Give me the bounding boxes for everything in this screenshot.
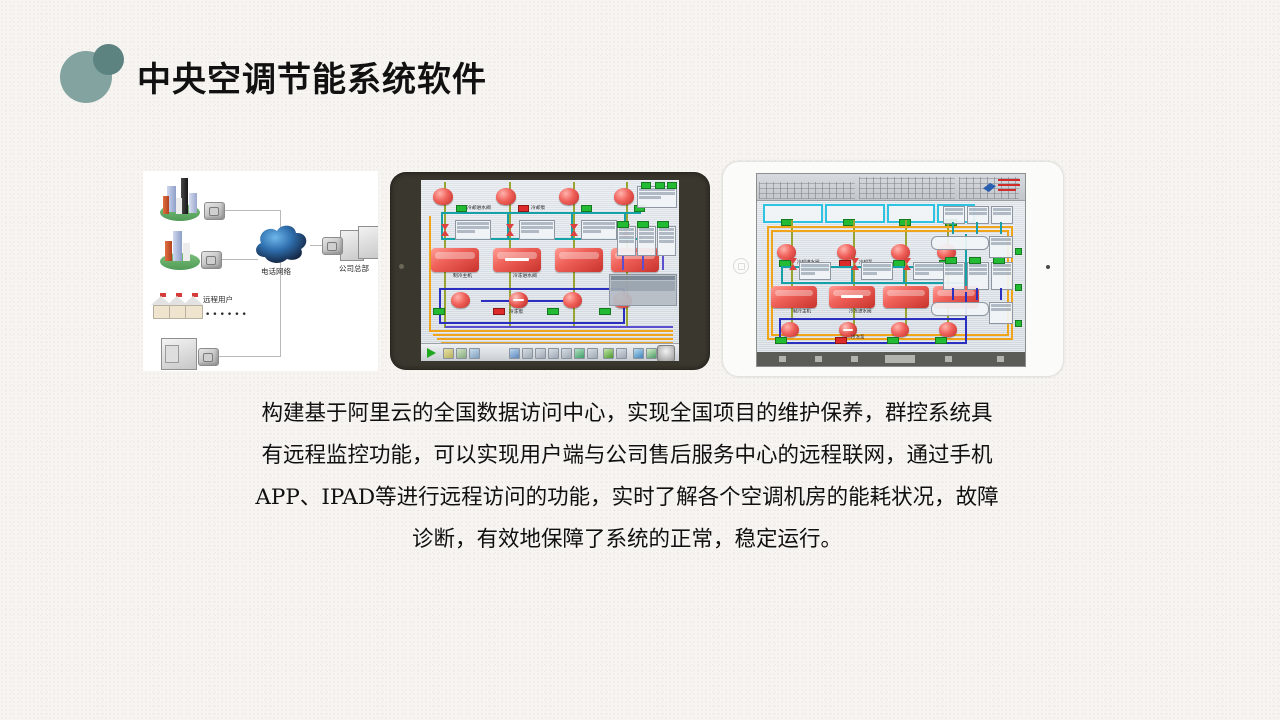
databox-row <box>993 212 1011 215</box>
toolbar-icon-9[interactable] <box>561 348 572 359</box>
chilled-pump-2 <box>509 292 528 308</box>
orange-loop-2 <box>433 334 673 336</box>
ahu-down-1 <box>622 256 624 270</box>
summary-pill-1 <box>931 236 989 250</box>
toolbar-icon-5[interactable] <box>509 348 520 359</box>
ahu-led-2 <box>969 257 981 264</box>
databox-row <box>945 208 963 211</box>
status-led-1 <box>456 205 467 212</box>
label-chilled-inlet-valve: 冷冻进水阀 <box>849 308 872 314</box>
databox-row <box>583 226 615 229</box>
network-topology-diagram: 电话网络 公司总部 <box>143 171 378 371</box>
router-icon-2 <box>201 251 222 269</box>
databox-row <box>801 268 829 271</box>
bottombar-icon-3[interactable] <box>851 356 858 362</box>
ahu-down-3 <box>1000 222 1002 234</box>
building-blue-2 <box>189 193 197 213</box>
ahu-led-1 <box>617 221 629 228</box>
ahu-box-1 <box>617 226 636 256</box>
chilled-pump-1 <box>781 322 799 337</box>
databox-row <box>863 264 891 267</box>
building-tower-dark <box>181 178 188 214</box>
summary-pill-2 <box>931 302 989 316</box>
status-led-8 <box>599 308 611 315</box>
databox-row <box>915 264 943 267</box>
swoosh-icon <box>983 183 996 192</box>
figure-row: 电话网络 公司总部 <box>0 0 1280 400</box>
building-white-2 <box>183 243 190 261</box>
cloud-icon <box>251 221 307 261</box>
databox-row <box>993 268 1011 271</box>
databox-row <box>945 272 963 275</box>
databox-row <box>583 222 615 225</box>
remote-users-ellipsis: •••••• <box>205 310 249 320</box>
house-body-3 <box>185 305 203 319</box>
databox-3 <box>913 262 945 280</box>
chiller-unit-3 <box>883 286 929 308</box>
status-led-5 <box>433 308 445 315</box>
router-icon-1 <box>204 202 225 220</box>
cooling-tower-bank-1 <box>763 204 823 223</box>
riser-pipe-3 <box>905 220 907 328</box>
body-paragraph: 构建基于阿里云的全国数据访问中心，实现全国项目的维护保养，群控系统具 有远程监控… <box>196 393 1058 561</box>
toolbar-icon-6[interactable] <box>522 348 533 359</box>
orange-loop-bottom-2 <box>771 334 1009 336</box>
chiller-unit-2 <box>829 286 875 308</box>
edge-marker-2 <box>1015 284 1022 291</box>
valve-3b <box>903 264 911 270</box>
violet-loop <box>445 326 673 328</box>
databox-row <box>991 308 1011 311</box>
status-led-2 <box>518 205 529 212</box>
databox-row <box>945 268 963 271</box>
gauge-led-1 <box>641 182 651 189</box>
teal-main-2 <box>781 282 967 284</box>
header-grid-2 <box>859 177 955 199</box>
cooling-main-top <box>441 212 641 214</box>
building-orange-2 <box>165 241 172 261</box>
databox-row <box>457 222 489 225</box>
ahu-down-2 <box>976 222 978 234</box>
scada-header-table <box>757 174 1025 201</box>
databox-row <box>619 232 634 235</box>
ahu-return-3 <box>1000 288 1002 300</box>
label-chiller-main: 制冷主机 <box>453 272 472 279</box>
label-cooling-inlet-valve: 冷却进水阀 <box>467 204 491 211</box>
remote-users-label: 远程用户 <box>203 294 233 305</box>
edge-marker-3 <box>1015 320 1022 327</box>
toolbar-icon-4[interactable] <box>469 348 480 359</box>
logo-line-3 <box>998 189 1016 191</box>
chilled-main-top <box>439 288 625 290</box>
databox-row <box>993 272 1011 275</box>
home-button[interactable] <box>733 258 749 274</box>
toolbar-icon-13[interactable] <box>616 348 627 359</box>
databox-1 <box>799 262 831 280</box>
white-ipad-screen: 冷却进水阀 冷却泵 <box>756 173 1026 367</box>
chiller-unit-2 <box>493 248 541 272</box>
ahu-box-5 <box>967 262 989 290</box>
databox-row <box>991 238 1011 241</box>
orange-loop-top-2 <box>771 230 1009 232</box>
bottombar-icon-1[interactable] <box>779 356 786 362</box>
cooling-tower-bank-2 <box>825 204 885 223</box>
databox-row <box>801 264 829 267</box>
orange-left-riser <box>767 226 769 340</box>
chilled-pump-1 <box>451 292 470 308</box>
company-logo <box>982 176 1022 197</box>
hvac-scada-mimic-white: 冷却进水阀 冷却泵 <box>757 174 1025 366</box>
cloud-label: 电话网络 <box>261 266 291 277</box>
scada-toolbar[interactable] <box>421 343 679 361</box>
databox-row <box>991 242 1011 245</box>
databox-row <box>863 272 877 275</box>
cloud-svg <box>251 221 311 267</box>
databox-row <box>639 240 654 243</box>
toolbar-icon-3[interactable] <box>456 348 467 359</box>
chiller-unit-3 <box>555 248 603 272</box>
databox-row <box>639 232 654 235</box>
chilled-pump-3 <box>563 292 582 308</box>
dark-tablet-screen: 冷却进水阀 冷却泵 <box>421 180 679 361</box>
toolbar-icon-11[interactable] <box>587 348 598 359</box>
bottombar-icon-2[interactable] <box>815 356 822 362</box>
router-icon-hq <box>322 237 343 255</box>
ahu-led-3 <box>657 221 669 228</box>
databox-3 <box>581 220 617 240</box>
bottombar-address-field[interactable] <box>885 355 915 363</box>
databox-row <box>611 281 675 291</box>
blue-main-top <box>779 318 967 320</box>
databox-row <box>915 272 929 275</box>
status-led-6 <box>493 308 505 315</box>
databox-row <box>915 268 943 271</box>
label-chilled-inlet-valve: 冷冻进水阀 <box>513 272 537 279</box>
chilled-main-bottom <box>439 322 625 324</box>
summary-box-2 <box>989 302 1013 324</box>
databox-row <box>521 226 553 229</box>
databox-row <box>945 264 963 267</box>
white-ipad-device: 冷却进水阀 冷却泵 <box>722 161 1064 377</box>
label-chilled-pump: 冷冻泵 <box>509 308 523 315</box>
link-pc-to-cloud <box>213 356 281 357</box>
workstation-icon <box>161 338 197 370</box>
valve-1b <box>789 264 797 270</box>
cooling-tower-pump-4 <box>614 188 634 205</box>
databox-row <box>619 240 634 243</box>
paragraph-line-3: APP、IPAD等进行远程访问的功能，实时了解各个空调机房的能耗状况，故障 <box>196 477 1058 519</box>
logo-line-2 <box>998 184 1020 186</box>
chilled-pump-led-2 <box>835 337 847 344</box>
databox-row <box>945 212 963 215</box>
databox-row <box>639 236 654 239</box>
databox-row <box>969 212 987 215</box>
ahu-box-4 <box>943 262 965 290</box>
paragraph-line-1: 构建基于阿里云的全国数据访问中心，实现全国项目的维护保养，群控系统具 <box>196 393 1058 435</box>
orange-left-riser-2 <box>771 230 773 336</box>
label-chilled-pump: 冷冻泵 <box>851 334 865 340</box>
ahu-box-3 <box>991 206 1013 224</box>
run-play-icon[interactable] <box>427 348 436 358</box>
ahu-down-3 <box>662 256 664 270</box>
databox-row <box>991 304 1011 307</box>
ahu-box-2 <box>637 226 656 256</box>
header-grid-1 <box>759 182 855 199</box>
label-cooling-pump: 冷却泵 <box>531 204 545 211</box>
orange-loop-1 <box>429 330 673 332</box>
databox-row <box>993 264 1011 267</box>
water-tank-block <box>609 274 677 306</box>
ahu-down-2 <box>642 256 644 270</box>
chiller-unit-1 <box>771 286 817 308</box>
house-icon-3 <box>183 296 203 318</box>
toolbar-icon-15[interactable] <box>646 348 657 359</box>
toolbar-icon-7[interactable] <box>535 348 546 359</box>
databox-row <box>521 230 539 233</box>
chilled-pump-3 <box>891 322 909 337</box>
ahu-return-1 <box>952 288 954 300</box>
ahu-led-2 <box>637 221 649 228</box>
databox-row <box>863 268 891 271</box>
databox-row <box>659 236 674 239</box>
databox-row <box>659 232 674 235</box>
cooling-tower-bank-3 <box>887 204 935 223</box>
cooling-tower-pump-1 <box>433 188 453 205</box>
ahu-led-1 <box>945 257 957 264</box>
databox-row <box>611 276 675 280</box>
ahu-box-1 <box>943 206 965 224</box>
databox-row <box>619 228 634 231</box>
databox-row <box>969 268 987 271</box>
toolbar-icon-14[interactable] <box>633 348 644 359</box>
status-led-7 <box>547 308 559 315</box>
databox-row <box>659 240 674 243</box>
camera-icon <box>399 264 404 269</box>
camera-icon <box>1046 265 1050 269</box>
databox-row <box>583 230 601 233</box>
databox-row <box>993 208 1011 211</box>
databox-1 <box>455 220 491 240</box>
building-blue-3 <box>173 231 182 261</box>
ahu-box-2 <box>967 206 989 224</box>
chilled-left-riser <box>439 288 441 324</box>
databox-row <box>457 226 489 229</box>
ahu-return-2 <box>976 288 978 300</box>
databox-row <box>969 208 987 211</box>
orange-left-riser <box>429 216 431 332</box>
databox-2 <box>519 220 555 240</box>
valve-2b <box>506 230 514 236</box>
building-orange-1 <box>163 196 169 214</box>
status-led-3 <box>581 205 592 212</box>
chiller-unit-1 <box>431 248 479 272</box>
databox-row <box>619 236 634 239</box>
databox-row <box>521 222 553 225</box>
ahu-led-3 <box>993 257 1005 264</box>
basket-icon[interactable] <box>657 345 675 361</box>
databox-row <box>457 230 475 233</box>
gauge-led-2 <box>655 182 665 189</box>
valve-1b <box>441 230 449 236</box>
network-diagram-canvas: 电话网络 公司总部 <box>143 171 378 371</box>
house-roof-3 <box>183 296 203 305</box>
headquarters-label: 公司总部 <box>339 263 369 274</box>
databox-row <box>639 196 661 199</box>
databox-row <box>969 264 987 267</box>
edge-marker-1 <box>1015 248 1022 255</box>
router-icon-3 <box>198 348 219 366</box>
paragraph-line-2: 有远程监控功能，可以实现用户端与公司售后服务中心的远程联网，通过手机 <box>196 435 1058 477</box>
headquarters-server-icon <box>340 224 378 260</box>
chilled-pump-led-1 <box>775 337 787 344</box>
summary-box-1 <box>989 236 1013 258</box>
toolbar-icon-10[interactable] <box>574 348 585 359</box>
cooling-tower-pump-2 <box>496 188 516 205</box>
label-chiller-main: 制冷主机 <box>793 308 811 314</box>
databox-row <box>659 228 674 231</box>
chilled-pump-led-3 <box>887 337 899 344</box>
toolbar-icon-12[interactable] <box>603 348 614 359</box>
cooling-tower-pump-3 <box>559 188 579 205</box>
ahu-down-1 <box>952 222 954 234</box>
ahu-box-6 <box>991 262 1013 290</box>
toolbar-icon-8[interactable] <box>548 348 559 359</box>
databox-row <box>639 228 654 231</box>
bottombar-icon-5[interactable] <box>997 356 1004 362</box>
gauge-panel-top <box>637 186 677 208</box>
valve-2b <box>851 264 859 270</box>
databox-row <box>969 272 987 275</box>
chilled-pump-4 <box>939 322 957 337</box>
dark-tablet-device: 冷却进水阀 冷却泵 <box>390 172 710 370</box>
databox-2 <box>861 262 893 280</box>
databox-row <box>801 272 815 275</box>
toolbar-icon-2[interactable] <box>443 348 454 359</box>
ahu-box-3 <box>657 226 676 256</box>
gauge-led-3 <box>667 182 677 189</box>
building-white-1 <box>176 198 182 214</box>
orange-loop-3 <box>437 338 673 340</box>
chilled-pump-led-4 <box>935 337 947 344</box>
logo-line-1 <box>998 179 1020 181</box>
hvac-scada-mimic-dark: 冷却进水阀 冷却泵 <box>421 180 679 361</box>
bottombar-icon-4[interactable] <box>945 356 952 362</box>
ios-bottom-bar[interactable] <box>757 352 1025 366</box>
server-box-2 <box>358 226 378 259</box>
blue-right-riser <box>965 292 967 344</box>
paragraph-line-4: 诊断，有效地保障了系统的正常，稳定运行。 <box>196 519 1058 561</box>
databox-row <box>639 192 675 195</box>
valve-3b <box>570 230 578 236</box>
